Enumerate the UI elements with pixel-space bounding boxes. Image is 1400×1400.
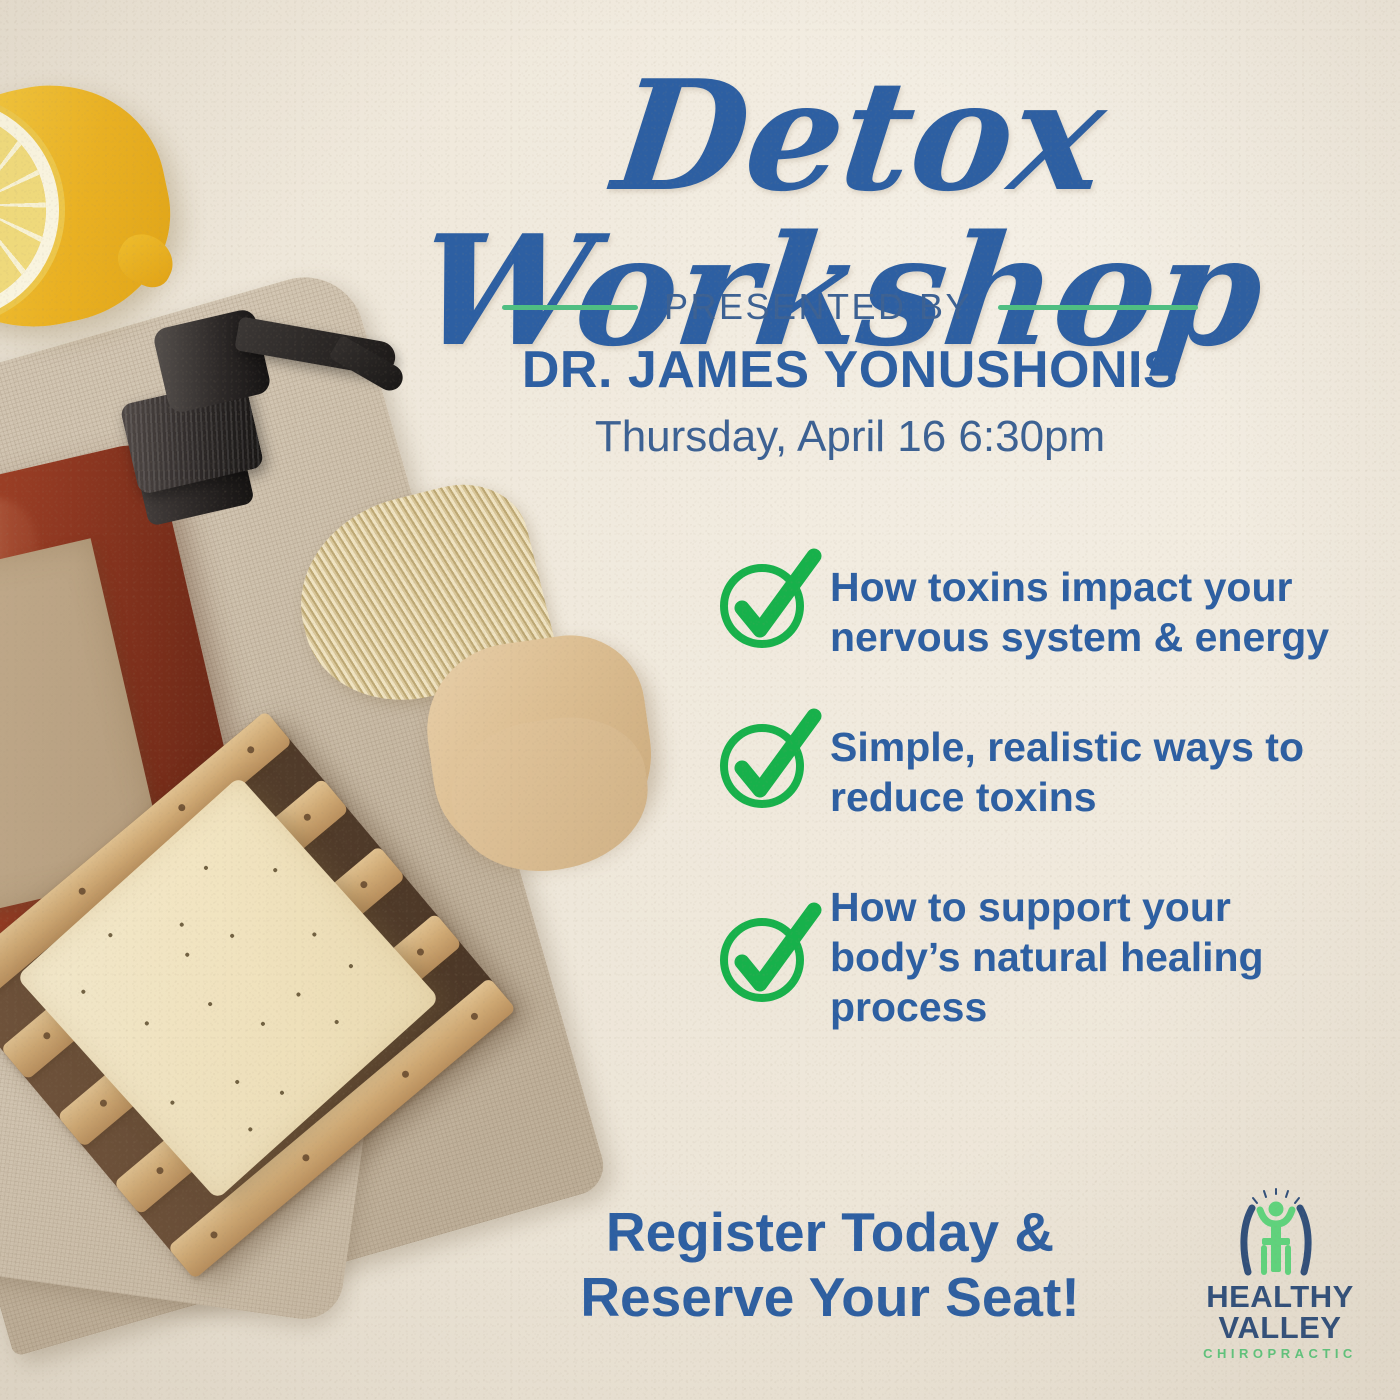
check-circle-icon (716, 720, 808, 812)
check-circle-icon (716, 914, 808, 1006)
healthy-valley-figure-h-icon (1190, 1188, 1370, 1280)
poster-canvas: Detox Workshop PRESENTED BY DR. JAMES YO… (0, 0, 1400, 1400)
cta-line-2: Reserve Your Seat! (470, 1265, 1190, 1330)
cta-line-1: Register Today & (470, 1200, 1190, 1265)
benefit-list: How toxins impact your nervous system & … (716, 556, 1366, 1032)
divider-line-right (998, 305, 1198, 310)
list-item: Simple, realistic ways to reduce toxins (716, 716, 1366, 822)
logo-line-1: HEALTHY (1190, 1282, 1370, 1312)
divider-line-left (502, 305, 638, 310)
presented-by-row: PRESENTED BY (400, 286, 1300, 328)
poster-content: Detox Workshop PRESENTED BY DR. JAMES YO… (0, 0, 1400, 1400)
list-item: How toxins impact your nervous system & … (716, 556, 1366, 662)
presented-by-label: PRESENTED BY (664, 286, 972, 328)
event-datetime: Thursday, April 16 6:30pm (400, 412, 1300, 462)
list-item-label: How to support your body’s natural heali… (830, 876, 1366, 1032)
list-item: How to support your body’s natural heali… (716, 876, 1366, 1032)
list-item-label: How toxins impact your nervous system & … (830, 556, 1366, 662)
list-item-label: Simple, realistic ways to reduce toxins (830, 716, 1366, 822)
healthy-valley-logo: HEALTHY VALLEY CHIROPRACTIC (1190, 1188, 1370, 1361)
logo-line-3: CHIROPRACTIC (1190, 1346, 1370, 1361)
logo-line-2: VALLEY (1190, 1312, 1370, 1343)
check-circle-icon (716, 560, 808, 652)
speaker-name: DR. JAMES YONUSHONIS (400, 340, 1300, 400)
call-to-action: Register Today & Reserve Your Seat! (470, 1200, 1190, 1330)
